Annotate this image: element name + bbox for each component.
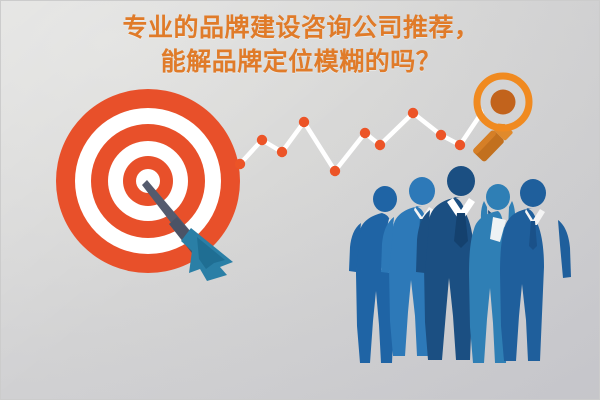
business-team-silhouettes <box>1 1 600 400</box>
poster-canvas: 专业的品牌建设咨询公司推荐， 能解品牌定位模糊的吗？ <box>0 0 600 400</box>
